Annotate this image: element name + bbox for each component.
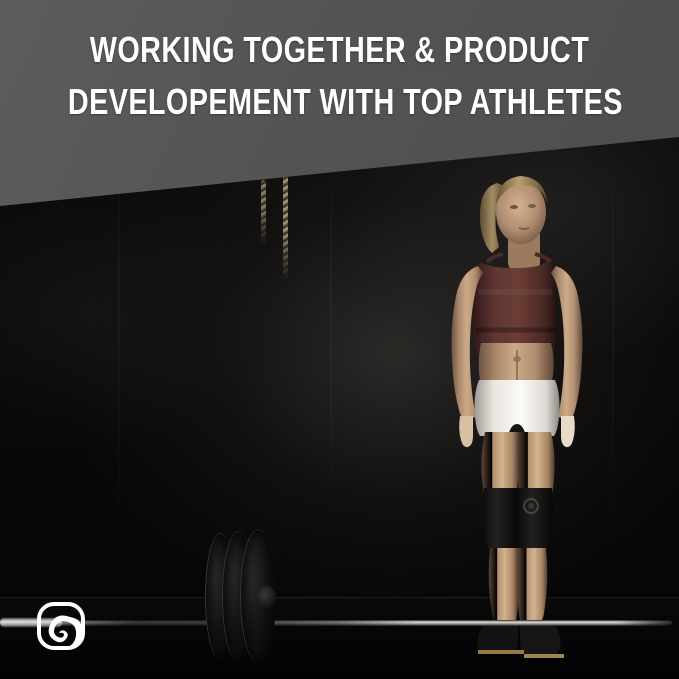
- gym-floor: [0, 598, 679, 679]
- rehband-spiral-logo: [36, 601, 86, 651]
- poster-image: WORKING TOGETHER & PRODUCT DEVELOPEMENT …: [0, 0, 679, 679]
- headline-line-1: WORKING TOGETHER & PRODUCT: [68, 24, 611, 76]
- wall-seam: [612, 120, 614, 560]
- barbell-shaft: [0, 620, 672, 626]
- logo-spiral-mark: [49, 615, 83, 649]
- wall-seam: [330, 120, 332, 560]
- climbing-rope: [283, 175, 288, 280]
- climbing-rope: [261, 180, 266, 245]
- floor-wall-edge: [0, 597, 679, 598]
- headline-line-2: DEVELOPEMENT WITH TOP ATHLETES: [68, 76, 611, 128]
- barbell-collar: [257, 586, 276, 608]
- headline: WORKING TOGETHER & PRODUCT DEVELOPEMENT …: [68, 24, 611, 128]
